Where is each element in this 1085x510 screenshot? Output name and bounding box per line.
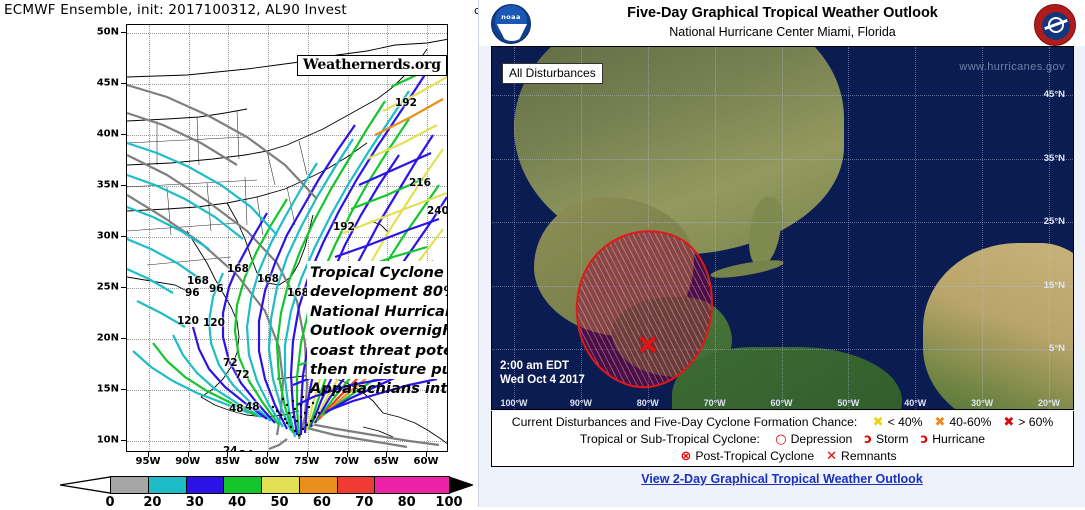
map-timestamp: 2:00 am EDT Wed Oct 4 2017 (500, 359, 585, 387)
formation-chance-item: ✖> 60% (1003, 415, 1053, 429)
sat-longitude-label: 90°W (570, 398, 592, 408)
track-hour-label: 168 (187, 275, 209, 287)
other-status-symbol-icon: ✕ (826, 449, 837, 464)
colorbar-tick-label: 50 (270, 495, 288, 510)
cyclone-type-label: Depression (791, 432, 853, 446)
sat-gridline-vertical (782, 47, 783, 409)
track-hour-label: 120 (177, 315, 199, 327)
colorbar-swatch (299, 477, 337, 493)
track-hour-label: 72 (223, 357, 238, 369)
track-hour-label: 120 (203, 317, 225, 329)
sat-longitude-label: 100°W (500, 398, 527, 408)
other-status-item: ⊗Post-Tropical Cyclone (680, 449, 814, 463)
longitude-label: 90W (175, 456, 200, 467)
sat-gridline-vertical (848, 47, 849, 409)
colorbar-tick-label: 20 (143, 495, 161, 510)
colorbar-swatch (261, 477, 299, 493)
formation-chance-label: < 40% (888, 415, 923, 429)
legend-cyclone-items: ○DepressionɔStormɔHurricane (763, 432, 985, 446)
track-hour-label: 192 (395, 97, 417, 109)
track-hour-label: 192 (333, 221, 355, 233)
other-status-label: Remnants (841, 449, 897, 463)
latitude-label: 45N (0, 78, 122, 89)
colorbar-tick-label: 70 (355, 495, 373, 510)
ensemble-track-map[interactable]: Weathernerds.org 19221624016816816816819… (126, 24, 448, 452)
sat-longitude-label: 80°W (637, 398, 659, 408)
formation-chance-symbol-icon: ✖ (1003, 415, 1014, 430)
sat-latitude-label: 45°N (1044, 89, 1065, 100)
legend-row-cyclone-types: Tropical or Sub-Tropical Cyclone: ○Depre… (492, 431, 1073, 448)
other-status-symbol-icon: ⊗ (680, 449, 691, 464)
page-subtitle: National Hurricane Center Miami, Florida (479, 25, 1085, 39)
longitude-label: 65W (374, 456, 399, 467)
colorbar-swatch (337, 477, 375, 493)
track-hour-label: 72 (235, 369, 250, 381)
longitude-label: 70W (334, 456, 359, 467)
colorbar-under-arrow (60, 476, 111, 494)
track-hour-label: 24 (239, 449, 254, 452)
track-hour-label: 96 (209, 283, 224, 295)
cyclone-type-symbol-icon: ○ (775, 432, 786, 447)
longitude-label: 80W (255, 456, 280, 467)
latitude-label: 30N (0, 231, 122, 242)
annotation-text: Tropical Cyclone development 80% per lat… (307, 261, 448, 399)
cyclone-type-item: ○Depression (775, 432, 852, 446)
legend-row-other: ⊗Post-Tropical Cyclone✕Remnants (492, 448, 1073, 465)
latitude-label: 25N (0, 282, 122, 293)
latitude-label: 20N (0, 333, 122, 344)
longitude-tick (188, 452, 189, 457)
sat-gridline-horizontal (492, 349, 1073, 350)
longitude-tick (148, 452, 149, 457)
colorbar-tick-label: 30 (186, 495, 204, 510)
track-hour-label: 168 (257, 273, 279, 285)
formation-chance-symbol-icon: ✖ (934, 415, 945, 430)
longitude-label: 60W (414, 456, 439, 467)
longitude-label: 85W (215, 456, 240, 467)
track-hour-label: 96 (185, 287, 200, 299)
latitude-label: 35N (0, 180, 122, 191)
longitude-tick (227, 452, 228, 457)
view-2day-outlook-link[interactable]: View 2-Day Graphical Tropical Weather Ou… (479, 472, 1085, 486)
sat-gridline-horizontal (492, 95, 1073, 96)
track-hour-label: 168 (287, 287, 309, 299)
colorbar-tick-label: 0 (105, 495, 114, 510)
formation-chance-label: > 60% (1018, 415, 1053, 429)
sat-latitude-label: 25°N (1044, 216, 1065, 227)
latitude-label: 15N (0, 384, 122, 395)
sat-longitude-label: 30°W (971, 398, 993, 408)
legend-formation-label: Current Disturbances and Five-Day Cyclon… (512, 415, 857, 429)
sat-longitude-label: 60°W (770, 398, 792, 408)
sat-gridline-vertical (514, 47, 515, 409)
legend-row-formation-chance: Current Disturbances and Five-Day Cyclon… (492, 414, 1073, 431)
colorbar-tick-label: 100 (435, 495, 462, 510)
cyclone-type-label: Storm (876, 432, 909, 446)
track-hour-label: 168 (227, 263, 249, 275)
sat-gridline-vertical (715, 47, 716, 409)
cyclone-type-symbol-icon: ɔ (921, 432, 929, 447)
formation-chance-label: 40-60% (949, 415, 991, 429)
map-legend: Current Disturbances and Five-Day Cyclon… (491, 411, 1074, 467)
legend-chance-items: ✖< 40%✖40-60%✖> 60% (861, 415, 1054, 429)
sat-gridline-vertical (581, 47, 582, 409)
ecmwf-ensemble-panel: ECMWF Ensemble, init: 2017100312, AL90 I… (0, 0, 478, 507)
colorbar-swatch (111, 477, 148, 493)
longitude-label: 75W (294, 456, 319, 467)
nws-logo-icon (1034, 4, 1076, 46)
sat-gridline-horizontal (492, 222, 1073, 223)
nhc-outlook-panel: noaa Five-Day Graphical Tropical Weather… (478, 0, 1085, 507)
colorbar-swatches (110, 476, 450, 494)
longitude-tick (426, 452, 427, 457)
disturbance-x-marker[interactable]: ✕ (637, 335, 659, 357)
annotation-overlay: Tropical Cyclone development 80% per lat… (307, 261, 448, 379)
sat-gridline-vertical (1049, 47, 1050, 409)
sat-latitude-label: 15°N (1044, 280, 1065, 291)
longitude-tick (347, 452, 348, 457)
page-title: Five-Day Graphical Tropical Weather Outl… (479, 5, 1085, 21)
cyclone-type-label: Hurricane (932, 432, 985, 446)
sat-latitude-label: 35°N (1044, 153, 1065, 164)
longitude-tick (386, 452, 387, 457)
cyclone-type-item: ɔHurricane (921, 432, 986, 446)
timestamp-date: Wed Oct 4 2017 (500, 373, 585, 387)
satellite-outlook-map[interactable]: www.hurricanes.gov ✕ All Disturbances 2:… (491, 46, 1074, 410)
track-hour-label: 48 (229, 403, 244, 415)
sat-longitude-label: 50°W (837, 398, 859, 408)
colorbar-swatch (374, 477, 449, 493)
state-borders (127, 111, 307, 265)
track-hour-label: 216 (409, 177, 431, 189)
weathernerds-watermark: Weathernerds.org (297, 55, 447, 76)
colorbar-swatch (186, 477, 224, 493)
colorbar-tick-label: 60 (313, 495, 331, 510)
sat-gridline-horizontal (492, 159, 1073, 160)
track-hour-label: 48 (245, 401, 260, 413)
timestamp-time: 2:00 am EDT (500, 359, 585, 373)
sat-latitude-label: 5°N (1049, 343, 1065, 354)
colorbar-tick-label: 80 (398, 495, 416, 510)
ecmwf-title: ECMWF Ensemble, init: 2017100312, AL90 I… (4, 2, 347, 18)
legend-other-items: ⊗Post-Tropical Cyclone✕Remnants (668, 449, 896, 463)
latitude-label: 50N (0, 27, 122, 38)
other-status-item: ✕Remnants (826, 449, 896, 463)
screenshot-root: ECMWF Ensemble, init: 2017100312, AL90 I… (0, 0, 1085, 507)
sat-gridline-vertical (982, 47, 983, 409)
landmass-cuba (710, 257, 785, 282)
track-hour-label: 240 (427, 205, 448, 217)
longitude-label: 95W (136, 456, 161, 467)
sat-longitude-label: 20°W (1038, 398, 1060, 408)
latitude-label: 40N (0, 129, 122, 140)
wind-colorbar: 020304050607080100 (60, 476, 470, 496)
colorbar-swatch (148, 477, 186, 493)
sat-longitude-label: 70°W (704, 398, 726, 408)
longitude-tick (307, 452, 308, 457)
other-status-label: Post-Tropical Cyclone (695, 449, 814, 463)
latitude-label: 10N (0, 435, 122, 446)
sat-gridline-vertical (915, 47, 916, 409)
sat-longitude-label: 40°W (904, 398, 926, 408)
formation-chance-symbol-icon: ✖ (873, 415, 884, 430)
colorbar-tick-label: 40 (228, 495, 246, 510)
nhc-header: noaa Five-Day Graphical Tropical Weather… (479, 0, 1085, 46)
cyclone-type-symbol-icon: ɔ (864, 432, 872, 447)
formation-chance-item: ✖< 40% (873, 415, 923, 429)
track-hour-label: 24 (223, 445, 238, 452)
landmass-africa (923, 243, 1074, 410)
longitude-tick (267, 452, 268, 457)
colorbar-swatch (223, 477, 261, 493)
colorbar-over-arrow (449, 476, 473, 494)
formation-chance-item: ✖40-60% (934, 415, 991, 429)
cyclone-type-item: ɔStorm (864, 432, 908, 446)
all-disturbances-button[interactable]: All Disturbances (502, 63, 603, 84)
legend-cyclone-label: Tropical or Sub-Tropical Cyclone: (580, 432, 760, 446)
hurricanes-gov-watermark: www.hurricanes.gov (959, 61, 1065, 73)
